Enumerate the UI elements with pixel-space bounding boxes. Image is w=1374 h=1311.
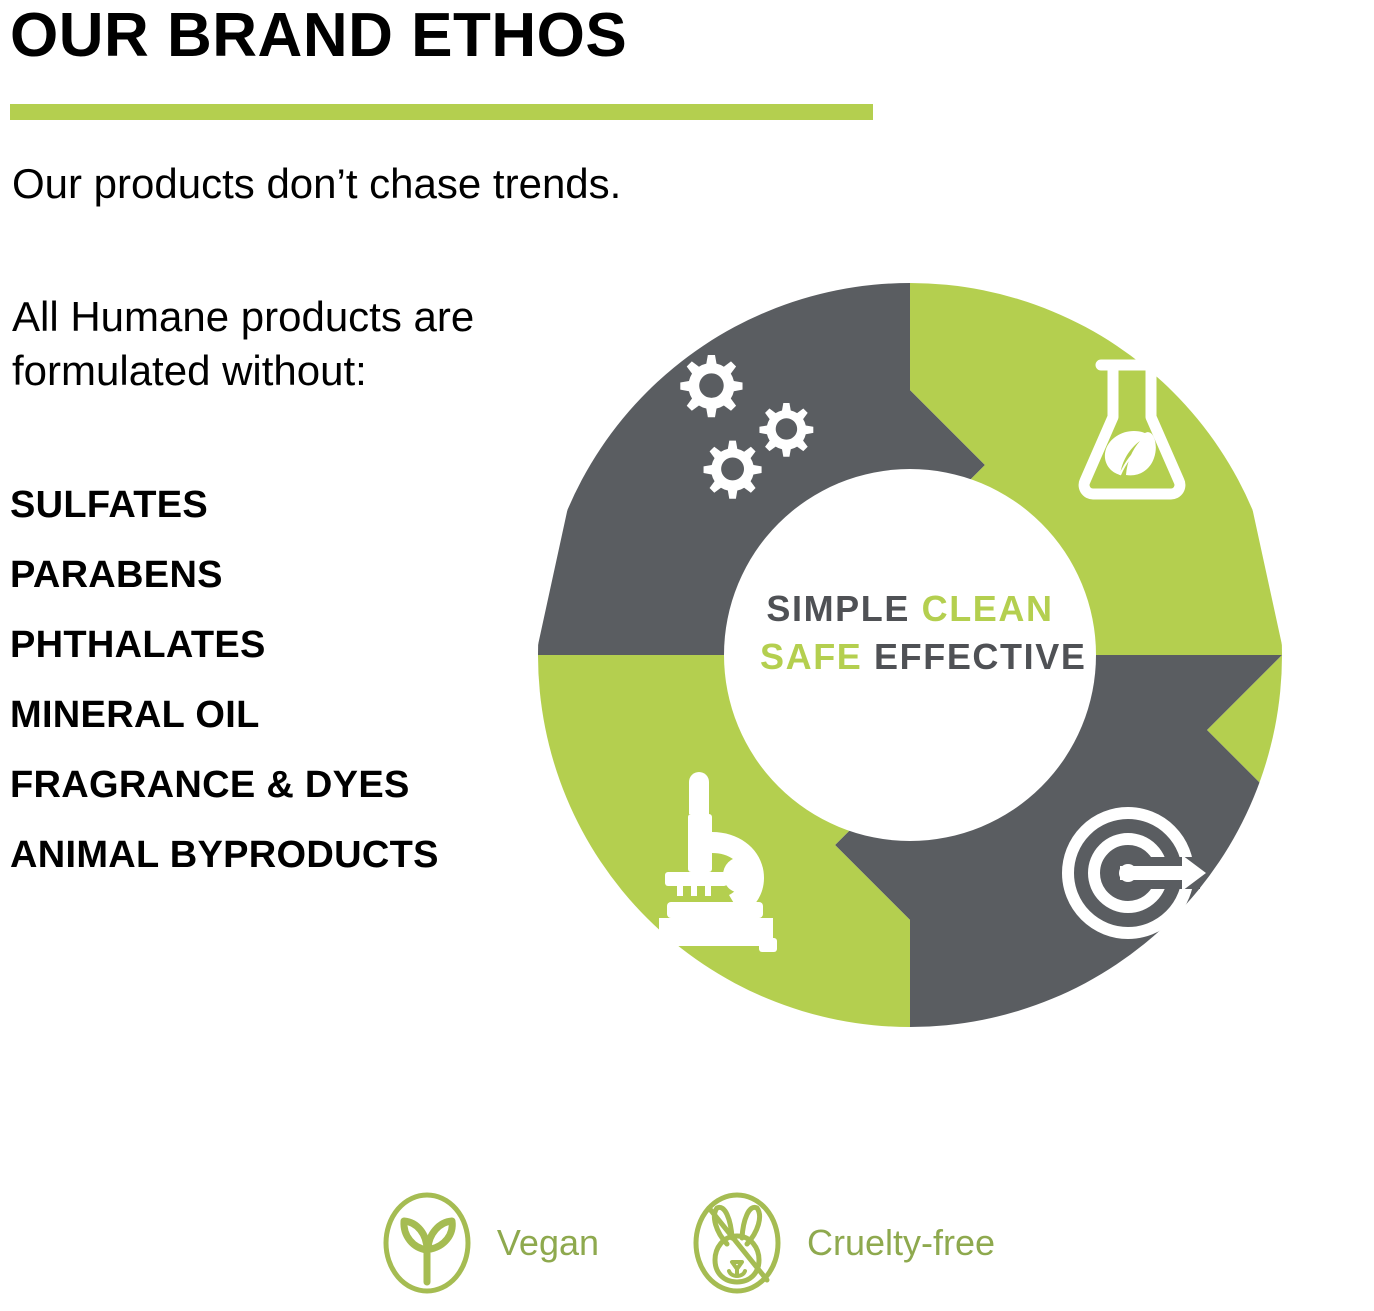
vegan-sprout-icon [379, 1188, 475, 1298]
badge-vegan-label: Vegan [497, 1222, 599, 1264]
page-title: OUR BRAND ETHOS [10, 2, 627, 70]
badge-cruelty-free: Cruelty-free [689, 1188, 995, 1298]
badge-cruelty-free-label: Cruelty-free [807, 1222, 995, 1264]
brand-ethos-page: OUR BRAND ETHOS Our products don’t chase… [0, 0, 1374, 1311]
wheel-segment-bottom-left [538, 655, 910, 1075]
certification-badges: Vegan Cruelty-free [0, 1188, 1374, 1298]
wheel-center-text: SIMPLE CLEAN SAFE EFFECTIVE [760, 585, 1060, 680]
badge-vegan: Vegan [379, 1188, 599, 1298]
center-word-simple: SIMPLE [766, 588, 910, 629]
center-word-clean: CLEAN [922, 588, 1054, 629]
title-underline-rule [10, 104, 873, 120]
center-text-line-2: SAFE EFFECTIVE [760, 633, 1060, 681]
center-word-safe: SAFE [760, 636, 862, 677]
center-word-effective: EFFECTIVE [874, 636, 1086, 677]
tagline-text: Our products don’t chase trends. [12, 160, 621, 208]
cruelty-free-rabbit-icon [689, 1188, 785, 1298]
center-text-line-1: SIMPLE CLEAN [760, 585, 1060, 633]
